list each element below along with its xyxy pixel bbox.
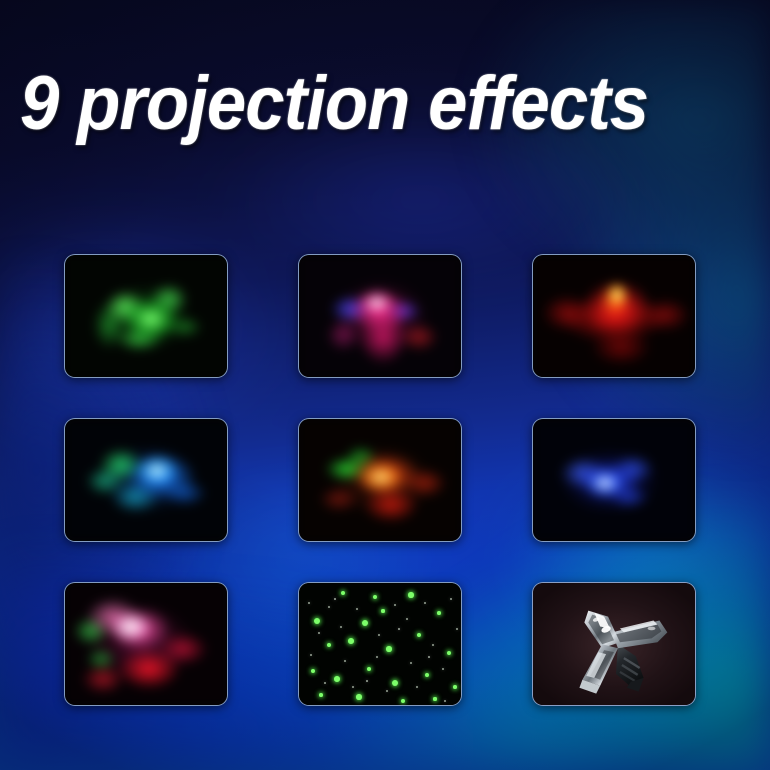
star-dot — [362, 620, 369, 627]
green-starfield-graphic — [299, 583, 461, 705]
star-dot-dim — [410, 662, 412, 664]
star-dot-dim — [378, 634, 380, 636]
effect-tile-multicolor-nebula[interactable]: Multicolour pink red nebula effect — [64, 582, 228, 706]
star-dot-dim — [398, 628, 400, 630]
star-dot — [447, 651, 451, 655]
star-dot — [386, 646, 391, 651]
star-dot — [417, 633, 421, 637]
star-dot-dim — [344, 660, 346, 662]
star-dot — [334, 676, 340, 682]
star-dot — [433, 697, 436, 700]
star-dot-dim — [366, 680, 368, 682]
star-dot — [437, 611, 441, 615]
star-dot-dim — [334, 598, 336, 600]
effect-tile-red-burst[interactable]: Red burst effect — [532, 254, 696, 378]
deep-blue-nebula-graphic — [533, 419, 695, 541]
star-dot — [348, 638, 354, 644]
star-dot-dim — [456, 628, 458, 630]
product-poster: 9 projection effects Green nebula effect… — [0, 0, 770, 770]
star-dot — [314, 618, 320, 624]
effect-tile-green-starfield[interactable]: Green starfield effect — [298, 582, 462, 706]
effects-grid: Green nebula effect Pink and blue nebula… — [64, 254, 708, 706]
star-dot — [319, 693, 323, 697]
star-dot-dim — [356, 608, 358, 610]
star-dot-dim — [386, 690, 388, 692]
blue-green-nebula-graphic — [65, 419, 227, 541]
star-dot — [341, 591, 346, 596]
star-dot-dim — [318, 632, 320, 634]
star-dot — [401, 699, 406, 704]
star-dot — [453, 685, 457, 689]
star-dot-dim — [424, 602, 426, 604]
star-dot-dim — [308, 602, 310, 604]
star-dot-dim — [394, 604, 396, 606]
effect-tile-red-green-nebula[interactable]: Red, orange and green nebula effect — [298, 418, 462, 542]
star-dot-dim — [324, 682, 326, 684]
car-star-projector-icon — [533, 583, 695, 705]
star-dot — [373, 595, 377, 599]
star-dot — [392, 680, 398, 686]
star-dot-dim — [310, 654, 312, 656]
star-dot-dim — [406, 618, 408, 620]
star-dot — [408, 592, 413, 597]
star-dot — [381, 609, 384, 612]
red-green-nebula-graphic — [299, 419, 461, 541]
star-dot-dim — [432, 644, 434, 646]
star-dot — [311, 669, 315, 673]
effect-tile-deep-blue-nebula[interactable]: Deep blue nebula effect — [532, 418, 696, 542]
star-dot-dim — [376, 656, 378, 658]
pink-blue-nebula-graphic — [299, 255, 461, 377]
red-burst-graphic — [533, 255, 695, 377]
star-dot-dim — [450, 598, 452, 600]
effect-tile-green-nebula[interactable]: Green nebula effect — [64, 254, 228, 378]
green-nebula-graphic — [65, 255, 227, 377]
star-dot — [356, 694, 361, 699]
effect-tile-product-photo[interactable]: Chrome car star projector device — [532, 582, 696, 706]
star-dot-dim — [428, 656, 430, 658]
star-dot-dim — [340, 626, 342, 628]
star-dot-dim — [444, 700, 446, 702]
page-title: 9 projection effects — [20, 66, 648, 142]
star-dot-dim — [328, 606, 330, 608]
star-dot — [327, 643, 331, 647]
effect-tile-blue-green-nebula[interactable]: Blue and green nebula effect — [64, 418, 228, 542]
star-dot-dim — [442, 668, 444, 670]
multicolor-nebula-graphic — [65, 583, 227, 705]
star-dot-dim — [416, 686, 418, 688]
effect-tile-pink-blue-nebula[interactable]: Pink and blue nebula effect — [298, 254, 462, 378]
star-dot — [367, 667, 371, 671]
star-dot — [425, 673, 429, 677]
star-dot-dim — [352, 686, 354, 688]
